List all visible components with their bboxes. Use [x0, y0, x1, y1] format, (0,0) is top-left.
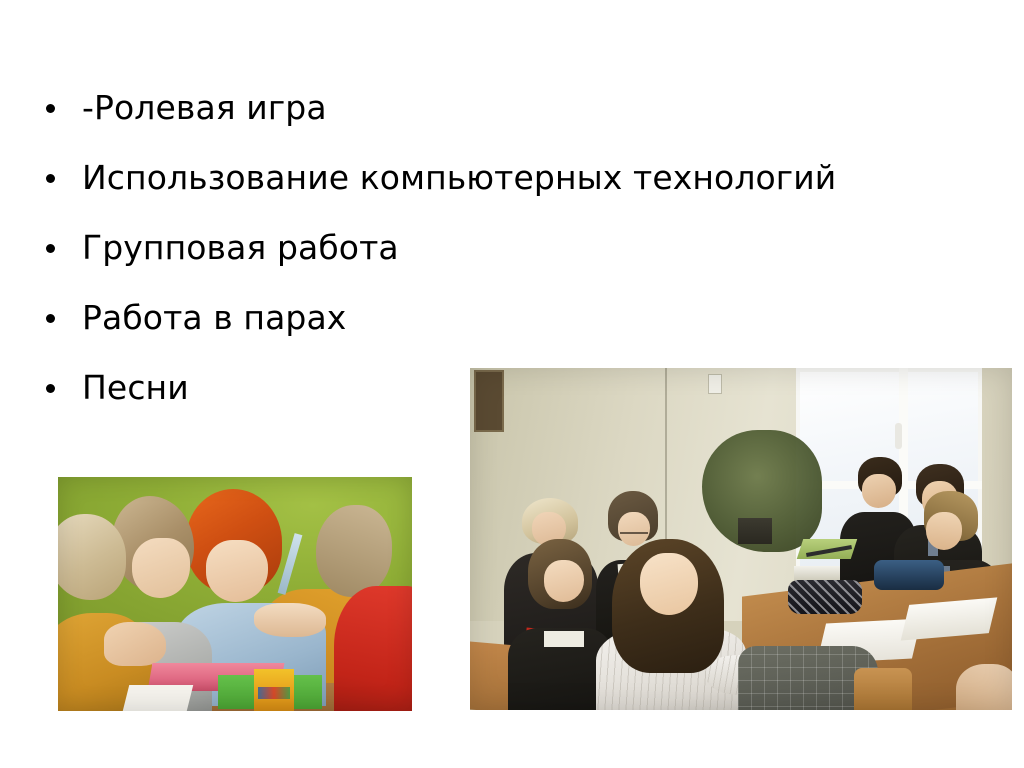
- photo-vignette: [470, 368, 1012, 710]
- bullet-dot-icon: [46, 314, 55, 323]
- bullet-dot-icon: [46, 174, 55, 183]
- photo-vignette: [58, 477, 412, 711]
- list-item: -Ролевая игра: [40, 86, 970, 130]
- bullet-label: Групповая работа: [82, 228, 399, 267]
- slide-canvas: -Ролевая игра Использование компьютерных…: [0, 0, 1024, 768]
- photo-classroom-students: [470, 368, 1012, 710]
- bullet-dot-icon: [46, 104, 55, 113]
- bullet-label: Песни: [82, 368, 189, 407]
- bullet-label: Работа в парах: [82, 298, 346, 337]
- list-item: Групповая работа: [40, 226, 970, 270]
- bullet-label: Использование компьютерных технологий: [82, 158, 836, 197]
- list-item: Работа в парах: [40, 296, 970, 340]
- bullet-label: -Ролевая игра: [82, 88, 327, 127]
- photo-teacher-with-children: [58, 477, 412, 711]
- list-item: Использование компьютерных технологий: [40, 156, 970, 200]
- bullet-dot-icon: [46, 384, 55, 393]
- bullet-dot-icon: [46, 244, 55, 253]
